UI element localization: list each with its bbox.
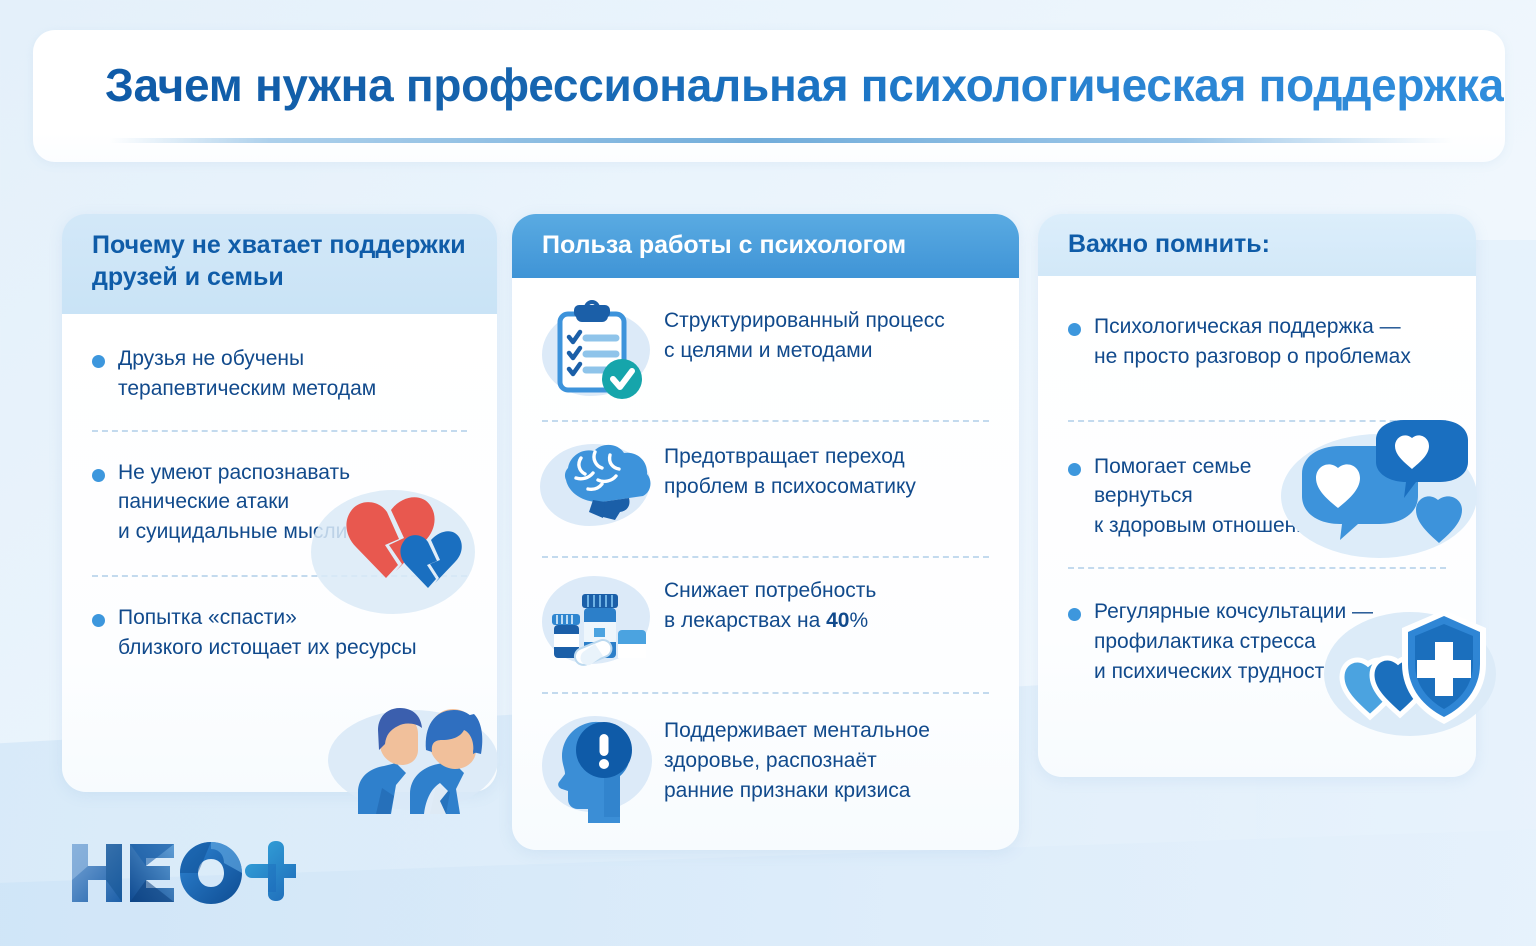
list-item-label: Психологическая поддержка — не просто ра… [1094, 312, 1411, 372]
title-underline-divider [109, 138, 1454, 143]
list-item-label: Снижает потребность в лекарствах на 40% [664, 570, 876, 636]
benefit-highlight-value: 40 [826, 609, 849, 632]
list-item-label: Друзья не обучены терапевтическим метода… [118, 344, 376, 404]
card-left-header: Почему не хватает поддержки друзей и сем… [62, 214, 497, 314]
card-left-body: Друзья не обучены терапевтическим метода… [62, 314, 497, 792]
page-title: Зачем нужна профессиональная психологиче… [105, 58, 1504, 112]
card-why-friends-support-insufficient: Почему не хватает поддержки друзей и сем… [62, 214, 497, 792]
list-item-label: Поддерживает ментальное здоровье, распоз… [664, 710, 930, 805]
bullet-dot-icon [92, 355, 105, 368]
bullet-dot-icon [1068, 608, 1081, 621]
list-item: Снижает потребность в лекарствах на 40% [512, 558, 1019, 674]
list-item-label: Помогает семье вернуться к здоровым отно… [1094, 452, 1334, 541]
list-item: Не умеют распознавать панические атаки и… [62, 432, 497, 547]
list-item-label: Не умеют распознавать панические атаки и… [118, 458, 350, 547]
card-important-to-remember: Важно помнить: Психологическая поддержка… [1038, 214, 1476, 777]
list-item-label: Структурированный процесс с целями и мет… [664, 300, 945, 366]
card-benefits-of-psychologist: Польза работы с психологом [512, 214, 1019, 850]
list-item: Поддерживает ментальное здоровье, распоз… [512, 694, 1019, 828]
list-item: Психологическая поддержка — не просто ра… [1038, 276, 1476, 372]
list-item: Структурированный процесс с целями и мет… [512, 278, 1019, 404]
brain-icon [538, 436, 656, 540]
card-right-body: Психологическая поддержка — не просто ра… [1038, 276, 1476, 777]
card-middle-body: Структурированный процесс с целями и мет… [512, 278, 1019, 850]
card-middle-header-title: Польза работы с психологом [542, 230, 906, 262]
bullet-dot-icon [1068, 463, 1081, 476]
header-banner: Зачем нужна профессиональная психологиче… [33, 30, 1505, 162]
list-item-label: Предотвращает переход проблем в психосом… [664, 436, 916, 502]
medicine-bottles-icon [538, 570, 656, 674]
list-item: Регулярные кочсультации — профилактика с… [1038, 569, 1476, 686]
list-item: Друзья не обучены терапевтическим метода… [62, 314, 497, 404]
list-item-label: Попытка «спасти» близкого истощает их ре… [118, 603, 417, 663]
list-item: Предотвращает переход проблем в психосом… [512, 422, 1019, 540]
bullet-dot-icon [1068, 323, 1081, 336]
head-alert-icon [538, 710, 656, 828]
card-middle-header: Польза работы с психологом [512, 214, 1019, 278]
bullet-dot-icon [92, 614, 105, 627]
list-item-label: Регулярные кочсультации — профилактика с… [1094, 597, 1373, 686]
clipboard-check-icon [538, 300, 656, 404]
bullet-dot-icon [92, 469, 105, 482]
card-left-header-title: Почему не хватает поддержки друзей и сем… [92, 230, 467, 293]
card-right-header-title: Важно помнить: [1068, 229, 1270, 261]
brand-logo-neo-plus [66, 838, 296, 910]
card-right-header: Важно помнить: [1038, 214, 1476, 276]
list-item: Помогает семье вернуться к здоровым отно… [1038, 422, 1476, 541]
benefit-percent-sign: % [849, 609, 868, 632]
list-item: Попытка «спасти» близкого истощает их ре… [62, 577, 497, 663]
